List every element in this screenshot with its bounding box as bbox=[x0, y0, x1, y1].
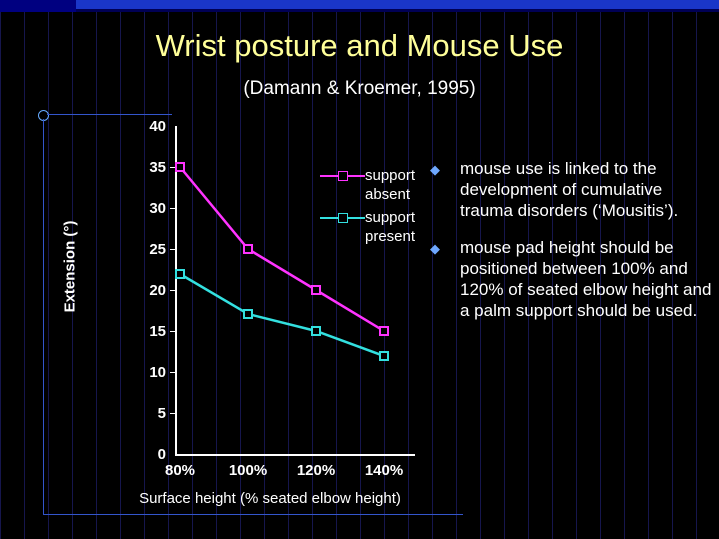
diamond-bullet-icon: ◆ bbox=[430, 237, 460, 321]
bullet-item-1: ◆ mouse use is linked to the development… bbox=[430, 158, 715, 221]
legend-swatch-support-absent bbox=[320, 166, 365, 185]
slide-subtitle: (Damann & Kroemer, 1995) bbox=[0, 78, 719, 100]
bullet-list: ◆ mouse use is linked to the development… bbox=[430, 158, 715, 337]
legend-label-line2: absent bbox=[365, 185, 415, 204]
frame-line-top bbox=[47, 114, 172, 115]
line-chart: Extension (°) Surface height (% seated e… bbox=[40, 118, 470, 518]
legend-label-line1: support bbox=[365, 166, 415, 185]
legend-label-support-present: support present bbox=[365, 208, 415, 246]
slide-top-bar bbox=[0, 0, 719, 12]
legend-label-line2: present bbox=[365, 227, 415, 246]
bullet-text-1: mouse use is linked to the development o… bbox=[460, 158, 715, 221]
bullet-item-2: ◆ mouse pad height should be positioned … bbox=[430, 237, 715, 321]
legend-swatch-support-present bbox=[320, 208, 365, 227]
slide-title: Wrist posture and Mouse Use bbox=[0, 28, 719, 64]
diamond-bullet-icon: ◆ bbox=[430, 158, 460, 221]
bullet-text-2: mouse pad height should be positioned be… bbox=[460, 237, 715, 321]
slide-top-bar-accent bbox=[76, 0, 719, 9]
legend-label-line1: support bbox=[365, 208, 415, 227]
legend-label-support-absent: support absent bbox=[365, 166, 415, 204]
